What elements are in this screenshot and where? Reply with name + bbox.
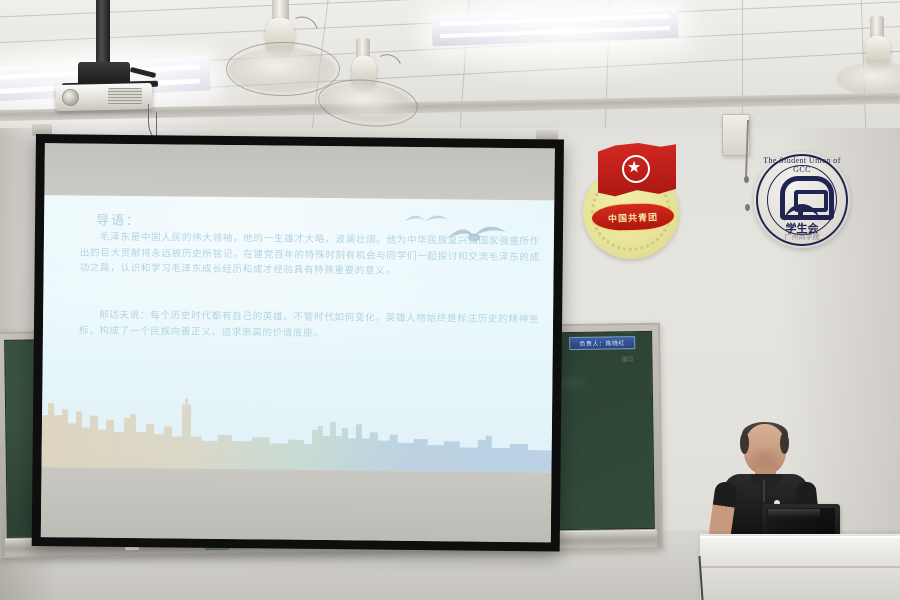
projector-lens-icon: [62, 89, 79, 106]
slide-paragraph-1: 毛泽东是中国人民的伟大领袖，他的一生雄才大略，波澜壮阔。他为中华民族复兴和国家强…: [80, 229, 540, 280]
ceiling-tile-line: [742, 0, 743, 128]
union-stem-icon: [798, 208, 803, 220]
hair-side: [740, 432, 749, 454]
monitor-glare: [768, 509, 820, 518]
city-skyline-silhouette: [42, 375, 553, 472]
board-corner-mark: 值日: [621, 354, 633, 363]
cord-knob: [745, 204, 750, 211]
star-circle-icon: [622, 155, 650, 183]
slide-paragraph-2: 郁达夫说：每个历史时代都有自己的英雄。不管时代如何变化，英雄人物始终是标注历史的…: [79, 307, 539, 343]
screen-unlit-top: [44, 143, 555, 200]
duty-roster-text: 负责人：陈晓红: [579, 338, 625, 348]
star-icon: [628, 161, 641, 174]
fan-blades: [836, 62, 900, 96]
duty-roster-sign: 负责人：陈晓红: [569, 336, 635, 350]
league-band-text: 中国共青团: [608, 210, 658, 225]
union-english-text: The Student Union of GCC: [754, 156, 850, 174]
screen-unlit-bottom: [41, 467, 552, 542]
ceiling-fan-far-right: [846, 16, 900, 126]
student-union-emblem: The Student Union of GCC 学生会 广州商学院: [754, 152, 850, 248]
screen-surface: 导语： 毛泽东是中国人民的伟大领袖，他的一生雄才大略，波澜壮阔。他为中华民族复兴…: [41, 143, 555, 542]
classroom-photo-scene: 中国共青团 The Student Union of GCC 学生会 广州商学院…: [0, 0, 900, 600]
lectern: [700, 536, 900, 600]
face-shading: [748, 448, 782, 470]
cord-knob: [744, 176, 749, 183]
slide-title: 导语：: [96, 210, 141, 229]
shirt-placket: [763, 480, 765, 502]
communist-youth-league-emblem: 中国共青团: [583, 143, 687, 261]
projector-vent: [108, 88, 142, 106]
hair-side: [780, 432, 789, 454]
fan-cage: [316, 75, 420, 131]
presentation-slide: 导语： 毛泽东是中国人民的伟大领袖，他的一生雄才大略，波澜壮阔。他为中华民族复兴…: [42, 195, 555, 472]
union-school-text: 广州商学院: [754, 232, 850, 242]
projection-screen: 导语： 毛泽东是中国人民的伟大领袖，他的一生雄才大略，波澜壮阔。他为中华民族复兴…: [32, 134, 564, 552]
shirt-collar: [751, 474, 781, 487]
lectern-panel-groove: [700, 566, 900, 568]
